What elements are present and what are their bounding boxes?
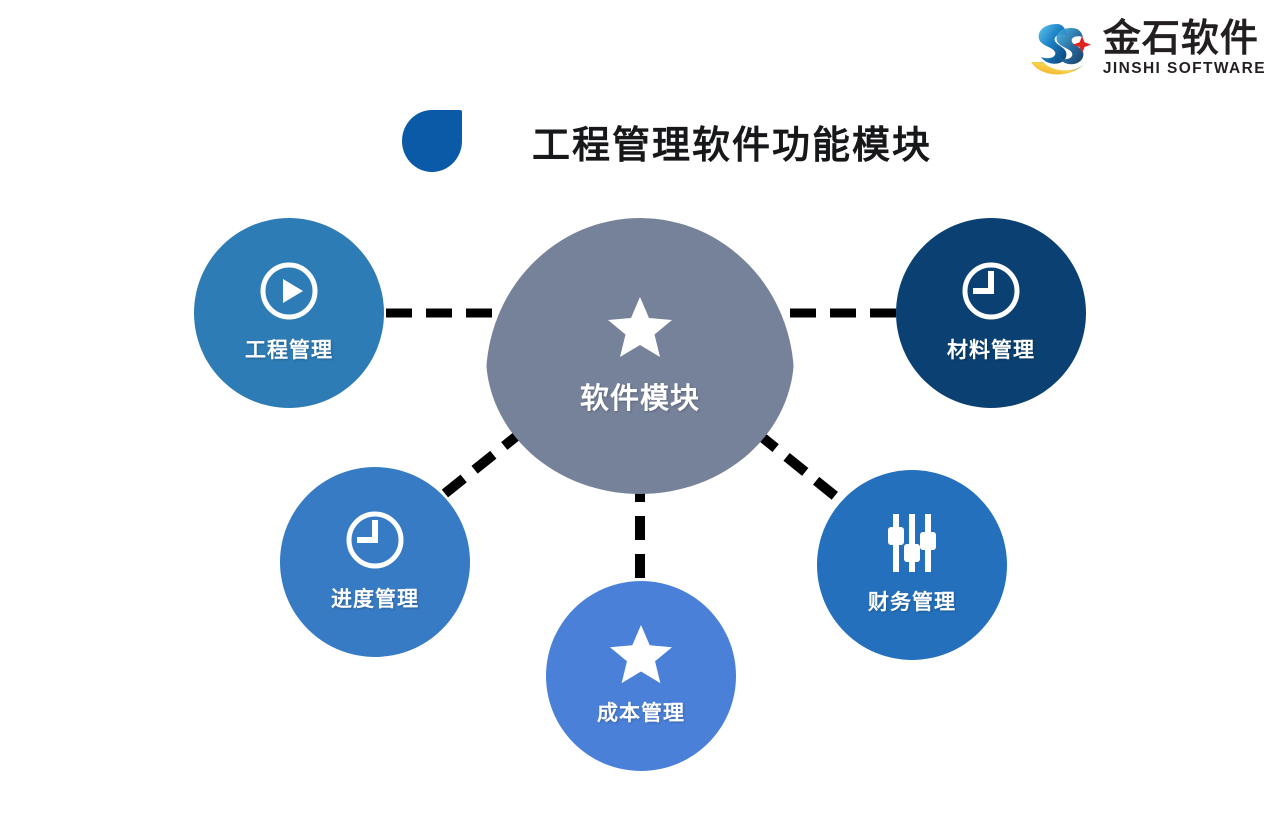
page-title-row: 工程管理软件功能模块 — [402, 110, 932, 172]
brand-logo: 金石软件 JINSHI SOFTWARE — [1027, 18, 1266, 80]
hub-node-label: 软件模块 — [580, 375, 700, 417]
jinshi-s-swoosh-logo-icon — [1027, 18, 1095, 80]
node-schedule-management-label: 进度管理 — [331, 583, 419, 613]
brand-name-en: JINSHI SOFTWARE — [1103, 59, 1266, 78]
node-cost-management[interactable]: 成本管理 — [546, 581, 736, 771]
teardrop-bullet-icon — [402, 110, 462, 172]
node-project-management-label: 工程管理 — [245, 334, 333, 364]
slide-canvas: 金石软件 JINSHI SOFTWARE 工程管理软件功能模块 软件模块 工程管… — [0, 0, 1280, 818]
star-icon — [609, 623, 673, 685]
clock-icon — [344, 509, 406, 571]
node-material-management-label: 材料管理 — [947, 334, 1035, 364]
node-schedule-management[interactable]: 进度管理 — [280, 467, 470, 657]
brand-name-cn: 金石软件 — [1103, 19, 1259, 58]
hub-node-software-module[interactable]: 软件模块 — [486, 218, 794, 494]
star-icon — [607, 295, 673, 359]
sliders-icon — [881, 512, 943, 574]
play-circle-icon — [258, 260, 320, 322]
node-project-management[interactable]: 工程管理 — [194, 218, 384, 408]
connector-hub-finance — [757, 433, 840, 500]
page-title: 工程管理软件功能模块 — [532, 114, 932, 169]
node-material-management[interactable]: 材料管理 — [896, 218, 1086, 408]
clock-icon — [960, 260, 1022, 322]
node-cost-management-label: 成本管理 — [597, 697, 685, 727]
node-finance-management[interactable]: 财务管理 — [817, 470, 1007, 660]
node-finance-management-label: 财务管理 — [868, 586, 956, 616]
brand-name-block: 金石软件 JINSHI SOFTWARE — [1103, 19, 1266, 78]
connector-hub-schedule — [438, 431, 523, 499]
